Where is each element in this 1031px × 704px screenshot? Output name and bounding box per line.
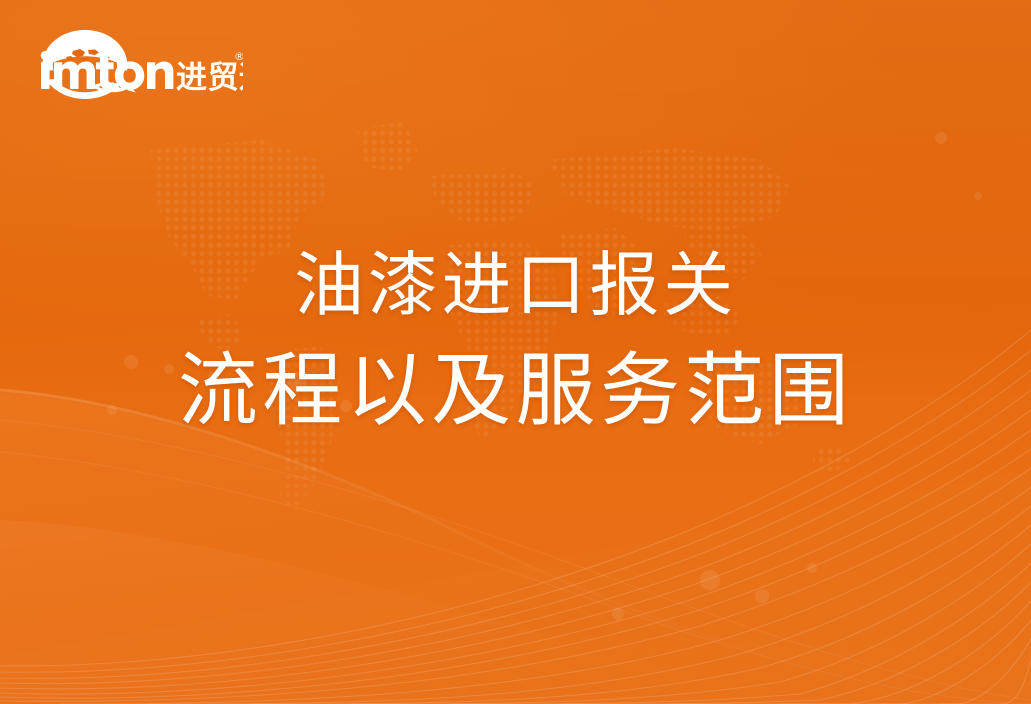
- logo-wordmark-chinese: 进贸通 ®: [176, 50, 243, 96]
- logo-chinese-text: 进贸通: [176, 60, 243, 96]
- logo-trademark-symbol: ®: [234, 50, 243, 63]
- title-line-1: 油漆进口报关: [0, 252, 1031, 322]
- title-line-2: 流程以及服务范围: [0, 352, 1031, 432]
- slide-canvas: 进贸通 ® 油漆进口报关 流程以及服务范围: [0, 0, 1031, 704]
- brand-logo[interactable]: 进贸通 ®: [33, 24, 243, 104]
- slide-title: 油漆进口报关 流程以及服务范围: [0, 252, 1031, 432]
